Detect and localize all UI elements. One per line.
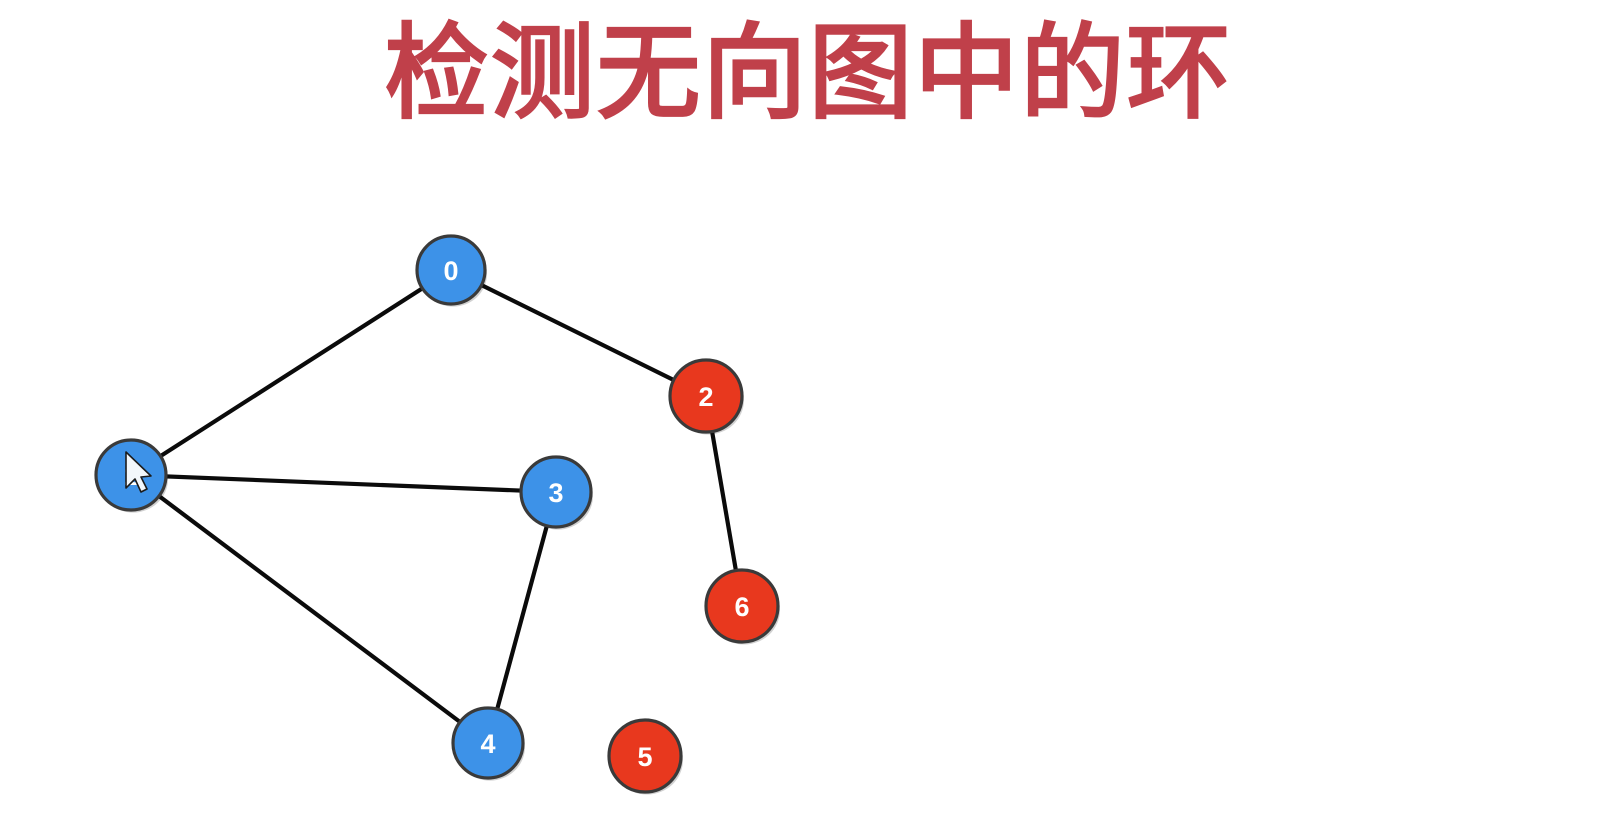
graph-edge-0-2 bbox=[451, 270, 706, 396]
node-label-4: 4 bbox=[480, 729, 495, 759]
node-label-6: 6 bbox=[734, 592, 749, 622]
graph-node-4[interactable]: 4 bbox=[453, 708, 525, 781]
graph-node-6[interactable]: 6 bbox=[706, 570, 780, 645]
graph-edge-0-1 bbox=[131, 270, 451, 475]
graph-node-2[interactable]: 2 bbox=[670, 360, 744, 435]
graph-node-3[interactable]: 3 bbox=[521, 457, 593, 530]
graph-edge-3-4 bbox=[488, 492, 556, 743]
node-label-5: 5 bbox=[637, 742, 652, 772]
node-label-3: 3 bbox=[548, 478, 563, 508]
nodes-layer: 0123456 bbox=[96, 236, 780, 795]
graph-node-0[interactable]: 0 bbox=[417, 236, 487, 307]
edges-layer bbox=[131, 270, 742, 743]
diagram-canvas: 检测无向图中的环 0123456 bbox=[0, 0, 1617, 838]
node-label-0: 0 bbox=[443, 256, 458, 286]
graph-edge-1-3 bbox=[131, 475, 556, 492]
graph-edge-1-4 bbox=[131, 475, 488, 743]
graph-node-5[interactable]: 5 bbox=[609, 720, 683, 795]
node-label-2: 2 bbox=[698, 382, 713, 412]
graph-figure: 0123456 bbox=[0, 0, 1617, 838]
